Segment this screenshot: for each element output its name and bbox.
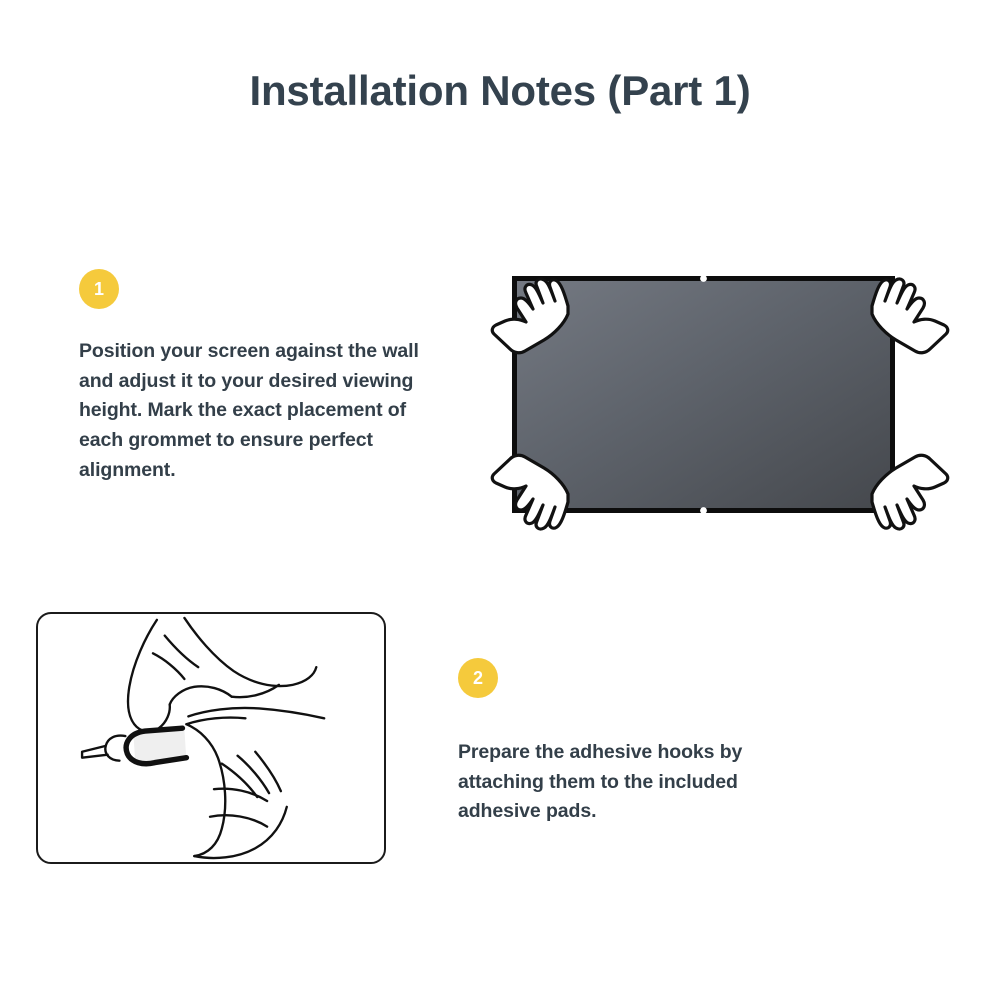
page-title: Installation Notes (Part 1) xyxy=(0,66,1000,116)
grommet-top xyxy=(700,275,707,282)
step-text-1: Position your screen against the wall an… xyxy=(79,337,451,485)
adhesive-hook-illustration-panel xyxy=(36,612,386,864)
grommet-bottom xyxy=(700,507,707,514)
upper-hand xyxy=(128,618,324,732)
step-badge-2: 2 xyxy=(458,658,498,698)
step-badge-1: 1 xyxy=(79,269,119,309)
projector-screen-illustration xyxy=(470,248,970,560)
hook-tab xyxy=(82,736,125,761)
lower-hand xyxy=(186,718,286,858)
installation-notes-page: Installation Notes (Part 1) 1 Position y… xyxy=(0,0,1000,1000)
step-text-2: Prepare the adhesive hooks by attaching … xyxy=(458,738,818,827)
